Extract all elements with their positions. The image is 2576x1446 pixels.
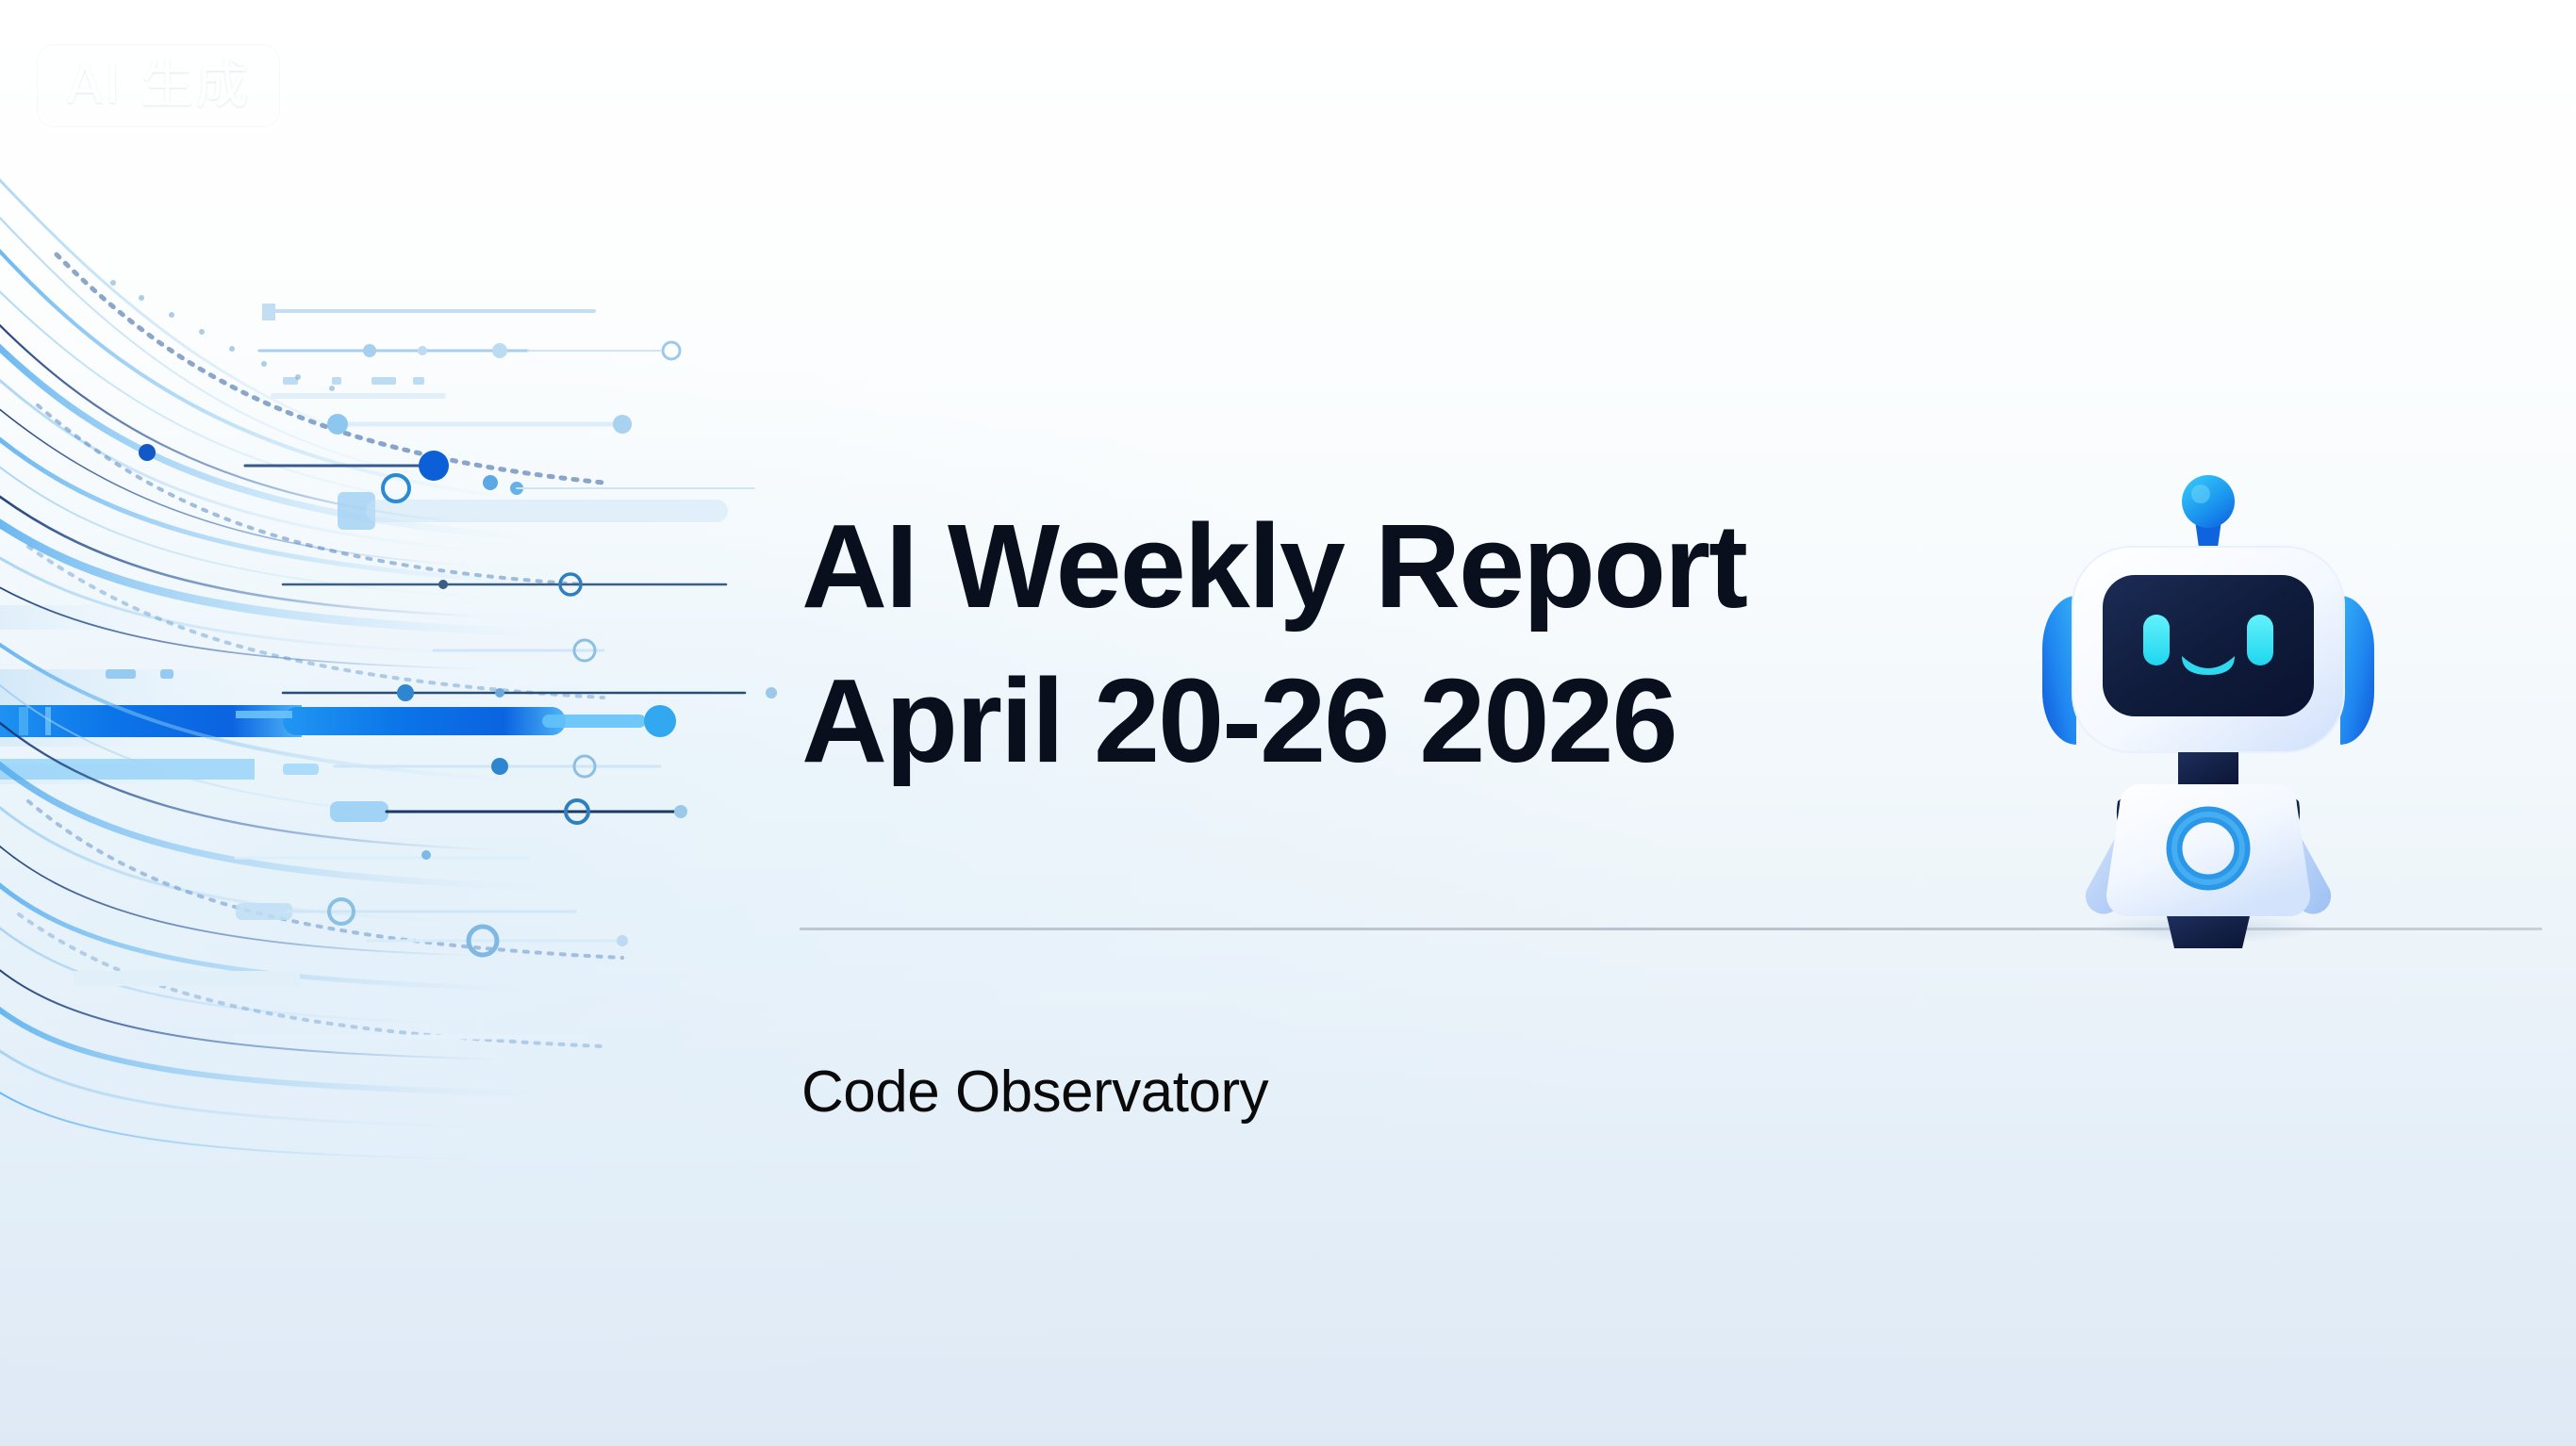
robot-mascot <box>2008 452 2404 952</box>
ai-generated-badge-label: AI 生成 <box>67 59 251 112</box>
abstract-tech-lines-graphic <box>0 141 811 1178</box>
subtitle: Code Observatory <box>801 1060 1268 1125</box>
ai-generated-badge: AI 生成 <box>33 41 284 131</box>
title-line-1: AI Weekly Report <box>801 509 2197 624</box>
title-line-2: April 20-26 2026 <box>801 664 2197 779</box>
page-title: AI Weekly Report April 20-26 2026 <box>801 509 2197 779</box>
slide-canvas: AI 生成 <box>0 0 2576 1446</box>
